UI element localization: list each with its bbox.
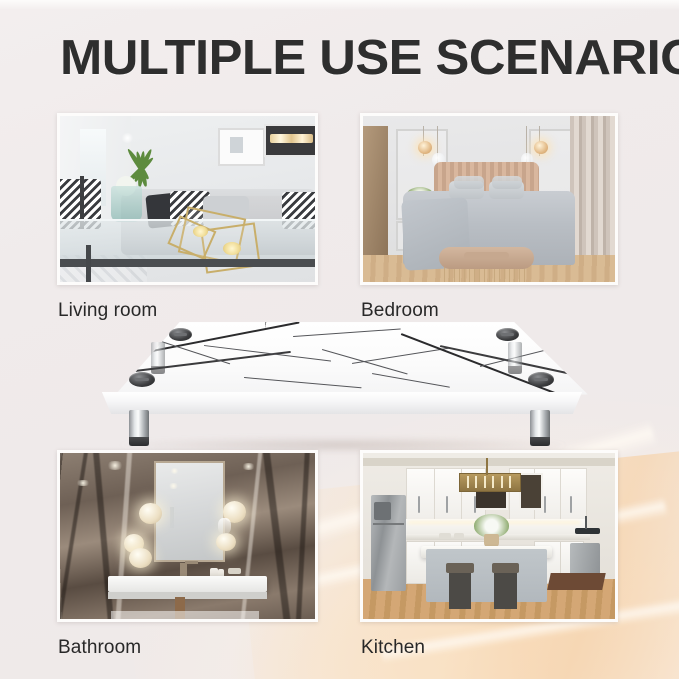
photo-living-room: [57, 113, 318, 285]
leg-front-right: [530, 410, 550, 446]
caption-kitchen: Kitchen: [361, 637, 425, 659]
top-edge-highlight: [0, 0, 679, 10]
caption-bedroom: Bedroom: [361, 300, 439, 322]
caption-bathroom: Bathroom: [58, 637, 141, 659]
scenario-collage: MULTIPLE USE SCENARIOS: [0, 0, 679, 679]
screw-cap-rear-left: [169, 328, 192, 341]
photo-kitchen: [360, 450, 618, 622]
screw-cap-rear-right: [496, 328, 519, 341]
leg-rear-right: [508, 342, 522, 374]
leg-rear-left: [151, 342, 165, 374]
leg-front-left: [129, 410, 149, 446]
photo-bathroom: [57, 450, 318, 622]
product-marble-riser-shelf: [96, 322, 588, 450]
photo-bedroom: [360, 113, 618, 285]
caption-living-room: Living room: [58, 300, 157, 322]
shelf-front-edge: [99, 392, 585, 414]
page-title: MULTIPLE USE SCENARIOS: [60, 32, 679, 84]
screw-cap-front-right: [528, 372, 554, 387]
screw-cap-front-left: [129, 372, 155, 387]
